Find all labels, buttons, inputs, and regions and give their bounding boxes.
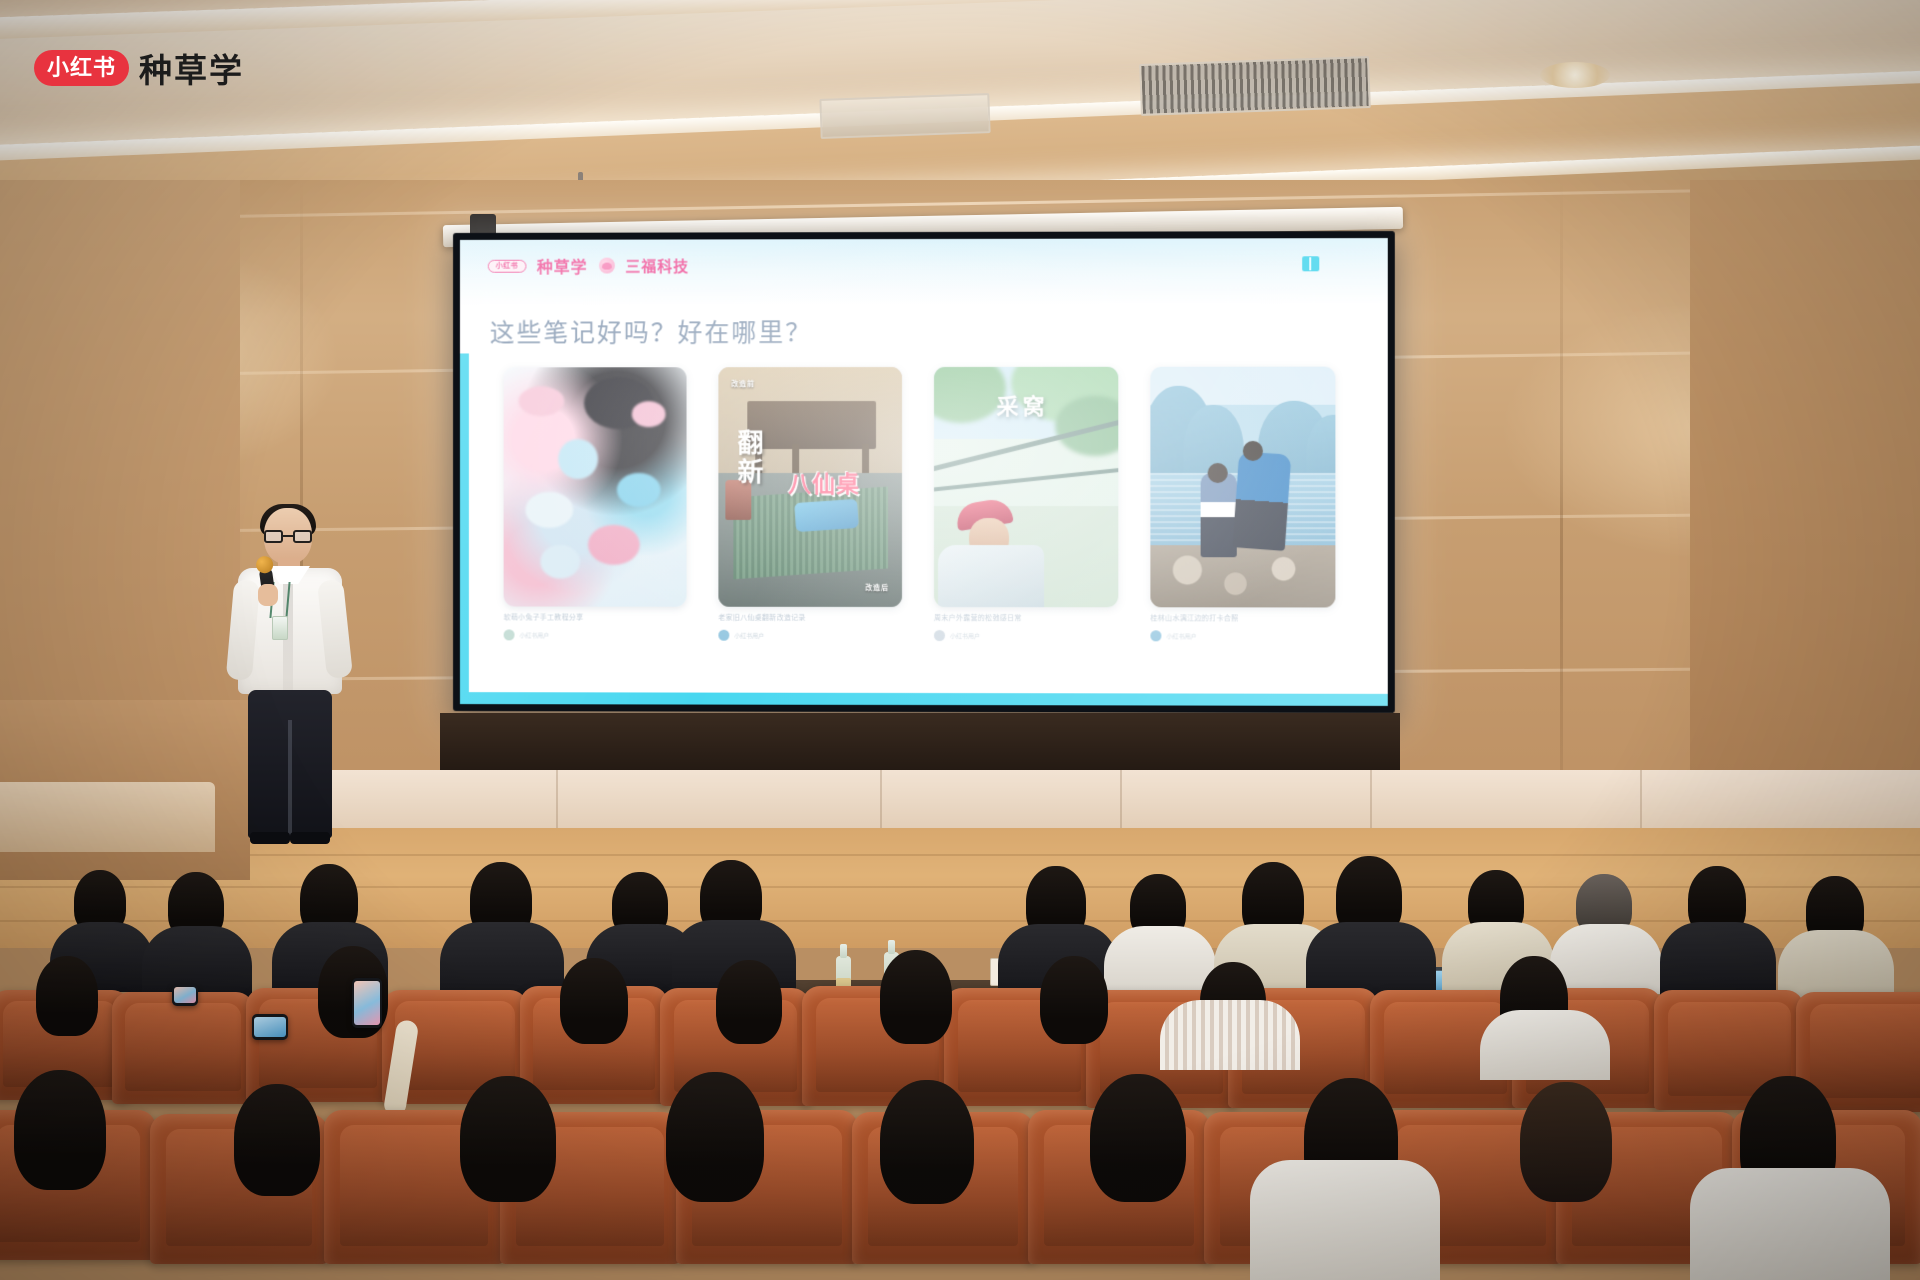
note-card-caption: 老家旧八仙桌翻新改造记录 [718,614,902,625]
slide-title: 这些笔记好吗？好在哪里？ [490,313,812,349]
note-card-meta: 小红书用户 [504,629,687,640]
watermark: 小红书 种草学 [34,44,244,92]
note-card-image [1150,367,1335,608]
slide-brand-label: 种草学 [537,254,588,278]
ceiling-light [1540,62,1610,88]
note-card-grid: 软萌小兔子手工教程分享 小红书用户 [504,367,1336,641]
auditorium-seat [112,992,254,1104]
note-card-caption: 周末户外露营的松弛感日常 [934,614,1118,625]
slide-brand-header: 小红书 种草学 三福科技 [488,253,689,277]
smartphone [252,1014,288,1040]
book-icon [1302,256,1319,271]
screenshot-root: 小红书 种草学 三福科技 这些笔记好吗？好在哪里？ [0,0,1920,1280]
slide-partner-label: 三福科技 [625,255,689,276]
note-card-author: 小红书用户 [734,630,764,639]
presenter-trousers [248,690,332,838]
avatar [718,629,729,640]
ceiling-vent [1139,56,1371,116]
note-card: 改造前 翻新 八仙桌 改造后 老家旧八仙桌翻新改造记录 小红书用户 [718,367,902,640]
avatar [1150,630,1161,641]
slide-accent-bar-left [460,353,469,700]
note-card-author: 小红书用户 [1166,631,1196,640]
note-card-meta: 小红书用户 [934,630,1118,641]
xiaohongshu-logo-icon: 小红书 [34,50,129,85]
projection-screen: 小红书 种草学 三福科技 这些笔记好吗？好在哪里？ [453,231,1395,713]
stage-skirt [440,713,1400,771]
note-card: 桂林山水漓江边的打卡合照 小红书用户 [1150,367,1335,641]
smartphone [352,978,382,1028]
note-card-meta: 小红书用户 [718,629,902,640]
note-card-author: 小红书用户 [950,631,980,640]
note-card-image: 改造前 翻新 八仙桌 改造后 [718,367,902,607]
avatar [934,630,945,641]
note-card-caption: 软萌小兔子手工教程分享 [504,613,687,624]
avatar [504,629,515,640]
presentation-slide: 小红书 种草学 三福科技 这些笔记好吗？好在哪里？ [460,238,1388,706]
note-overlay-text: 改造前 [731,379,755,389]
slide-accent-bar-bottom [460,692,1388,706]
note-overlay-title: 翻新 [735,429,762,487]
xiaohongshu-logo-icon: 小红书 [488,259,526,272]
note-overlay-title: 采窝 [997,389,1049,421]
smartphone [172,984,198,1006]
ceiling-panel [819,93,990,139]
note-card-caption: 桂林山水漓江边的打卡合照 [1150,614,1335,625]
note-overlay-subtitle: 八仙桌 [788,465,860,499]
note-card: 软萌小兔子手工教程分享 小红书用户 [504,367,687,640]
presenter [228,508,348,838]
audience [0,860,1920,1280]
note-card: 采窝 周末户外露营的松弛感日常 小红书用户 [934,367,1118,641]
name-badge [272,616,288,640]
glasses-icon [264,530,312,543]
partner-logo-icon [599,258,615,274]
watermark-brand-label: 种草学 [139,44,244,92]
stage-step [0,782,215,852]
note-card-author: 小红书用户 [520,630,550,639]
note-card-image: 采窝 [934,367,1118,607]
note-card-meta: 小红书用户 [1150,630,1335,641]
note-card-image [504,367,687,607]
note-overlay-text: 改造后 [865,583,889,593]
